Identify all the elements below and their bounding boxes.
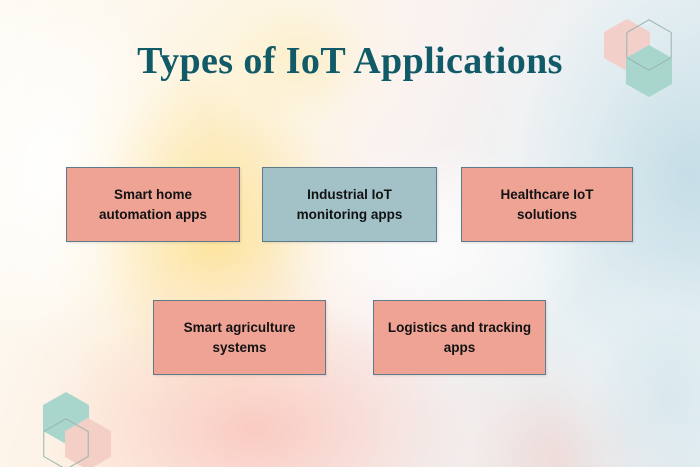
page-title: Types of IoT Applications <box>0 40 700 84</box>
concept-box-label: Smart agriculture systems <box>164 318 315 357</box>
concept-box-smart-home-automation-apps[interactable]: Smart home automation apps <box>66 167 240 242</box>
concept-box-label: Logistics and tracking apps <box>384 318 535 357</box>
hexagon-outline-icon <box>43 418 89 467</box>
concept-box-label: Smart home automation apps <box>77 185 229 224</box>
concept-box-label: Industrial IoT monitoring apps <box>273 185 426 224</box>
concept-box-label: Healthcare IoT solutions <box>472 185 622 224</box>
concept-box-industrial-iot-monitoring-apps[interactable]: Industrial IoT monitoring apps <box>262 167 437 242</box>
concept-box-healthcare-iot-solutions[interactable]: Healthcare IoT solutions <box>461 167 633 242</box>
slide-canvas: Types of IoT Applications Smart home aut… <box>0 0 700 467</box>
concept-box-smart-agriculture-systems[interactable]: Smart agriculture systems <box>153 300 326 375</box>
hexagon-cluster-bottom-left <box>32 392 102 467</box>
concept-box-logistics-and-tracking-apps[interactable]: Logistics and tracking apps <box>373 300 546 375</box>
